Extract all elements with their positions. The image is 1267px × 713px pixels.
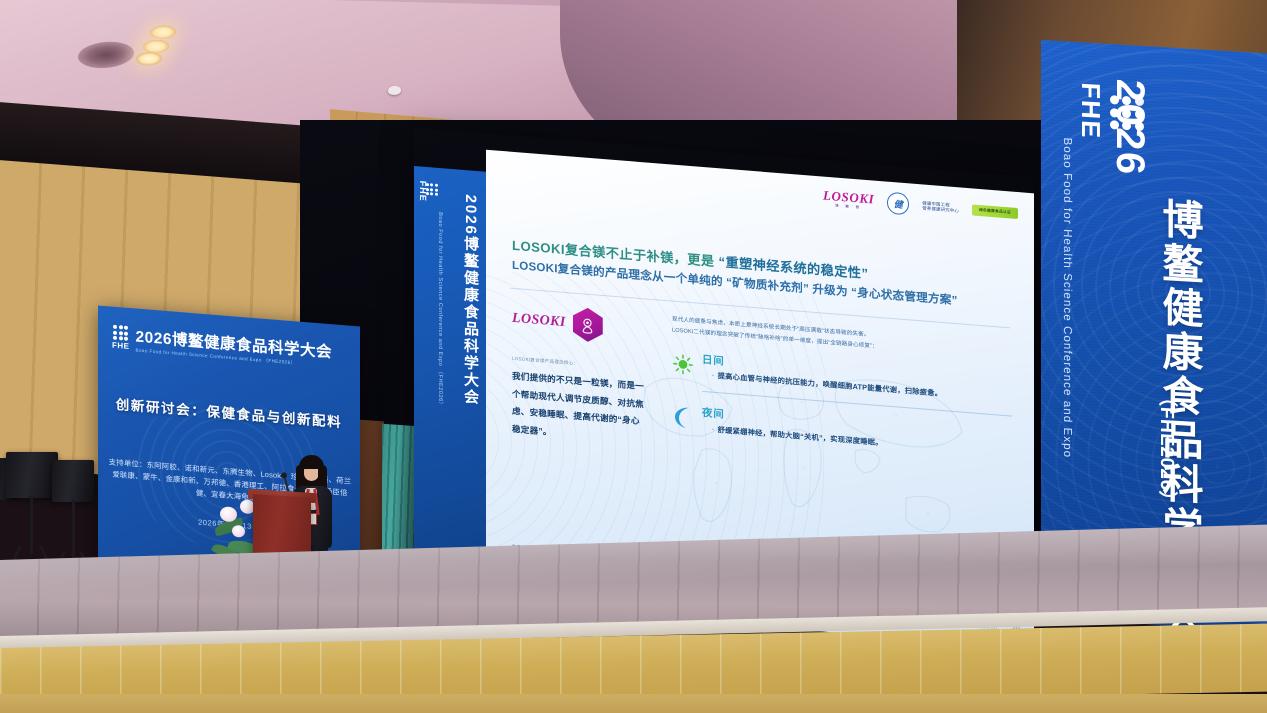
banner-title-en: Boao Food for Health Science Conference … <box>1061 137 1073 458</box>
left-card-brand: LOSOKI <box>512 311 566 331</box>
green-badge-text: 绿色健康食品认证 <box>979 207 1011 215</box>
bullet-dot: · <box>712 371 715 380</box>
pa-speaker-left <box>6 452 58 516</box>
institute-name: 健康中国工程 营养健康研究中心 <box>922 200 959 214</box>
hall-floor <box>0 694 1267 713</box>
fhe-logo: FHE <box>112 325 130 351</box>
conference-stage-photo: FHE 2026博鳌健康食品科学大会 Boao Food for Health … <box>0 0 1267 713</box>
institute-badge-initial: 健 <box>894 197 903 211</box>
slide-headline-group: LOSOKI复合镁不止于补镁，更是 “重塑神经系统的稳定性” LOSOKI复合镁… <box>512 236 1012 314</box>
fhe-logo-text: FHE <box>112 342 130 351</box>
green-certification-badge: 绿色健康食品认证 <box>972 204 1018 219</box>
poster-title-group: 2026博鳌健康食品科学大会 Boao Food for Health Scie… <box>136 324 332 369</box>
hexagon-pin-icon <box>573 307 603 343</box>
screen-side-banner: FHE 2026博鳌健康食品科学大会 Boao Food for Health … <box>414 166 486 602</box>
day-block: 日间 ·提高心血管与神经的抗压能力，唤醒细胞ATP能量代谢，扫除疲惫。 <box>672 352 1012 416</box>
slide-logo-row: LOSOKI 洛 索 奇 健 健康中国工程 营养健康研究中心 绿色健康食品认证 <box>823 187 1018 225</box>
sun-icon <box>672 352 694 376</box>
banner-logo-text: FHE <box>1075 79 1106 143</box>
side-banner-logo: FHE <box>418 180 428 202</box>
slide-left-card: LOSOKI LOSOKI复合镁产品理念核心： 我们提供的不只是一粒镁，而是一个… <box>512 302 644 449</box>
side-banner-title-en: Boao Food for Health Science Conference … <box>436 212 444 408</box>
losoki-logo-sub: 洛 索 奇 <box>835 204 862 210</box>
pa-speaker-right <box>52 460 96 518</box>
day-block-body: 日间 ·提高心血管与神经的抗压能力，唤醒细胞ATP能量代谢，扫除疲惫。 <box>702 355 1012 417</box>
losoki-logo: LOSOKI 洛 索 奇 <box>823 188 874 210</box>
losoki-logo-text: LOSOKI <box>823 188 874 205</box>
left-card-body: 我们提供的不只是一粒镁，而是一个帮助现代人调节皮质醇、对抗焦虑、安稳睡眠、提高代… <box>512 368 644 449</box>
poster-header: FHE 2026博鳌健康食品科学大会 Boao Food for Health … <box>112 323 350 371</box>
left-card-logo-row: LOSOKI <box>512 302 644 347</box>
banner-tag: （FHE2026） <box>1153 387 1180 511</box>
fhe-dots-icon <box>113 325 128 341</box>
banner-year: 2026 <box>1107 78 1152 178</box>
institute-badge-icon: 健 <box>887 192 909 216</box>
side-banner-title-cn: 2026博鳌健康食品科学大会 <box>460 194 481 407</box>
bullet-dot: · <box>712 424 715 433</box>
moon-icon <box>672 406 694 430</box>
